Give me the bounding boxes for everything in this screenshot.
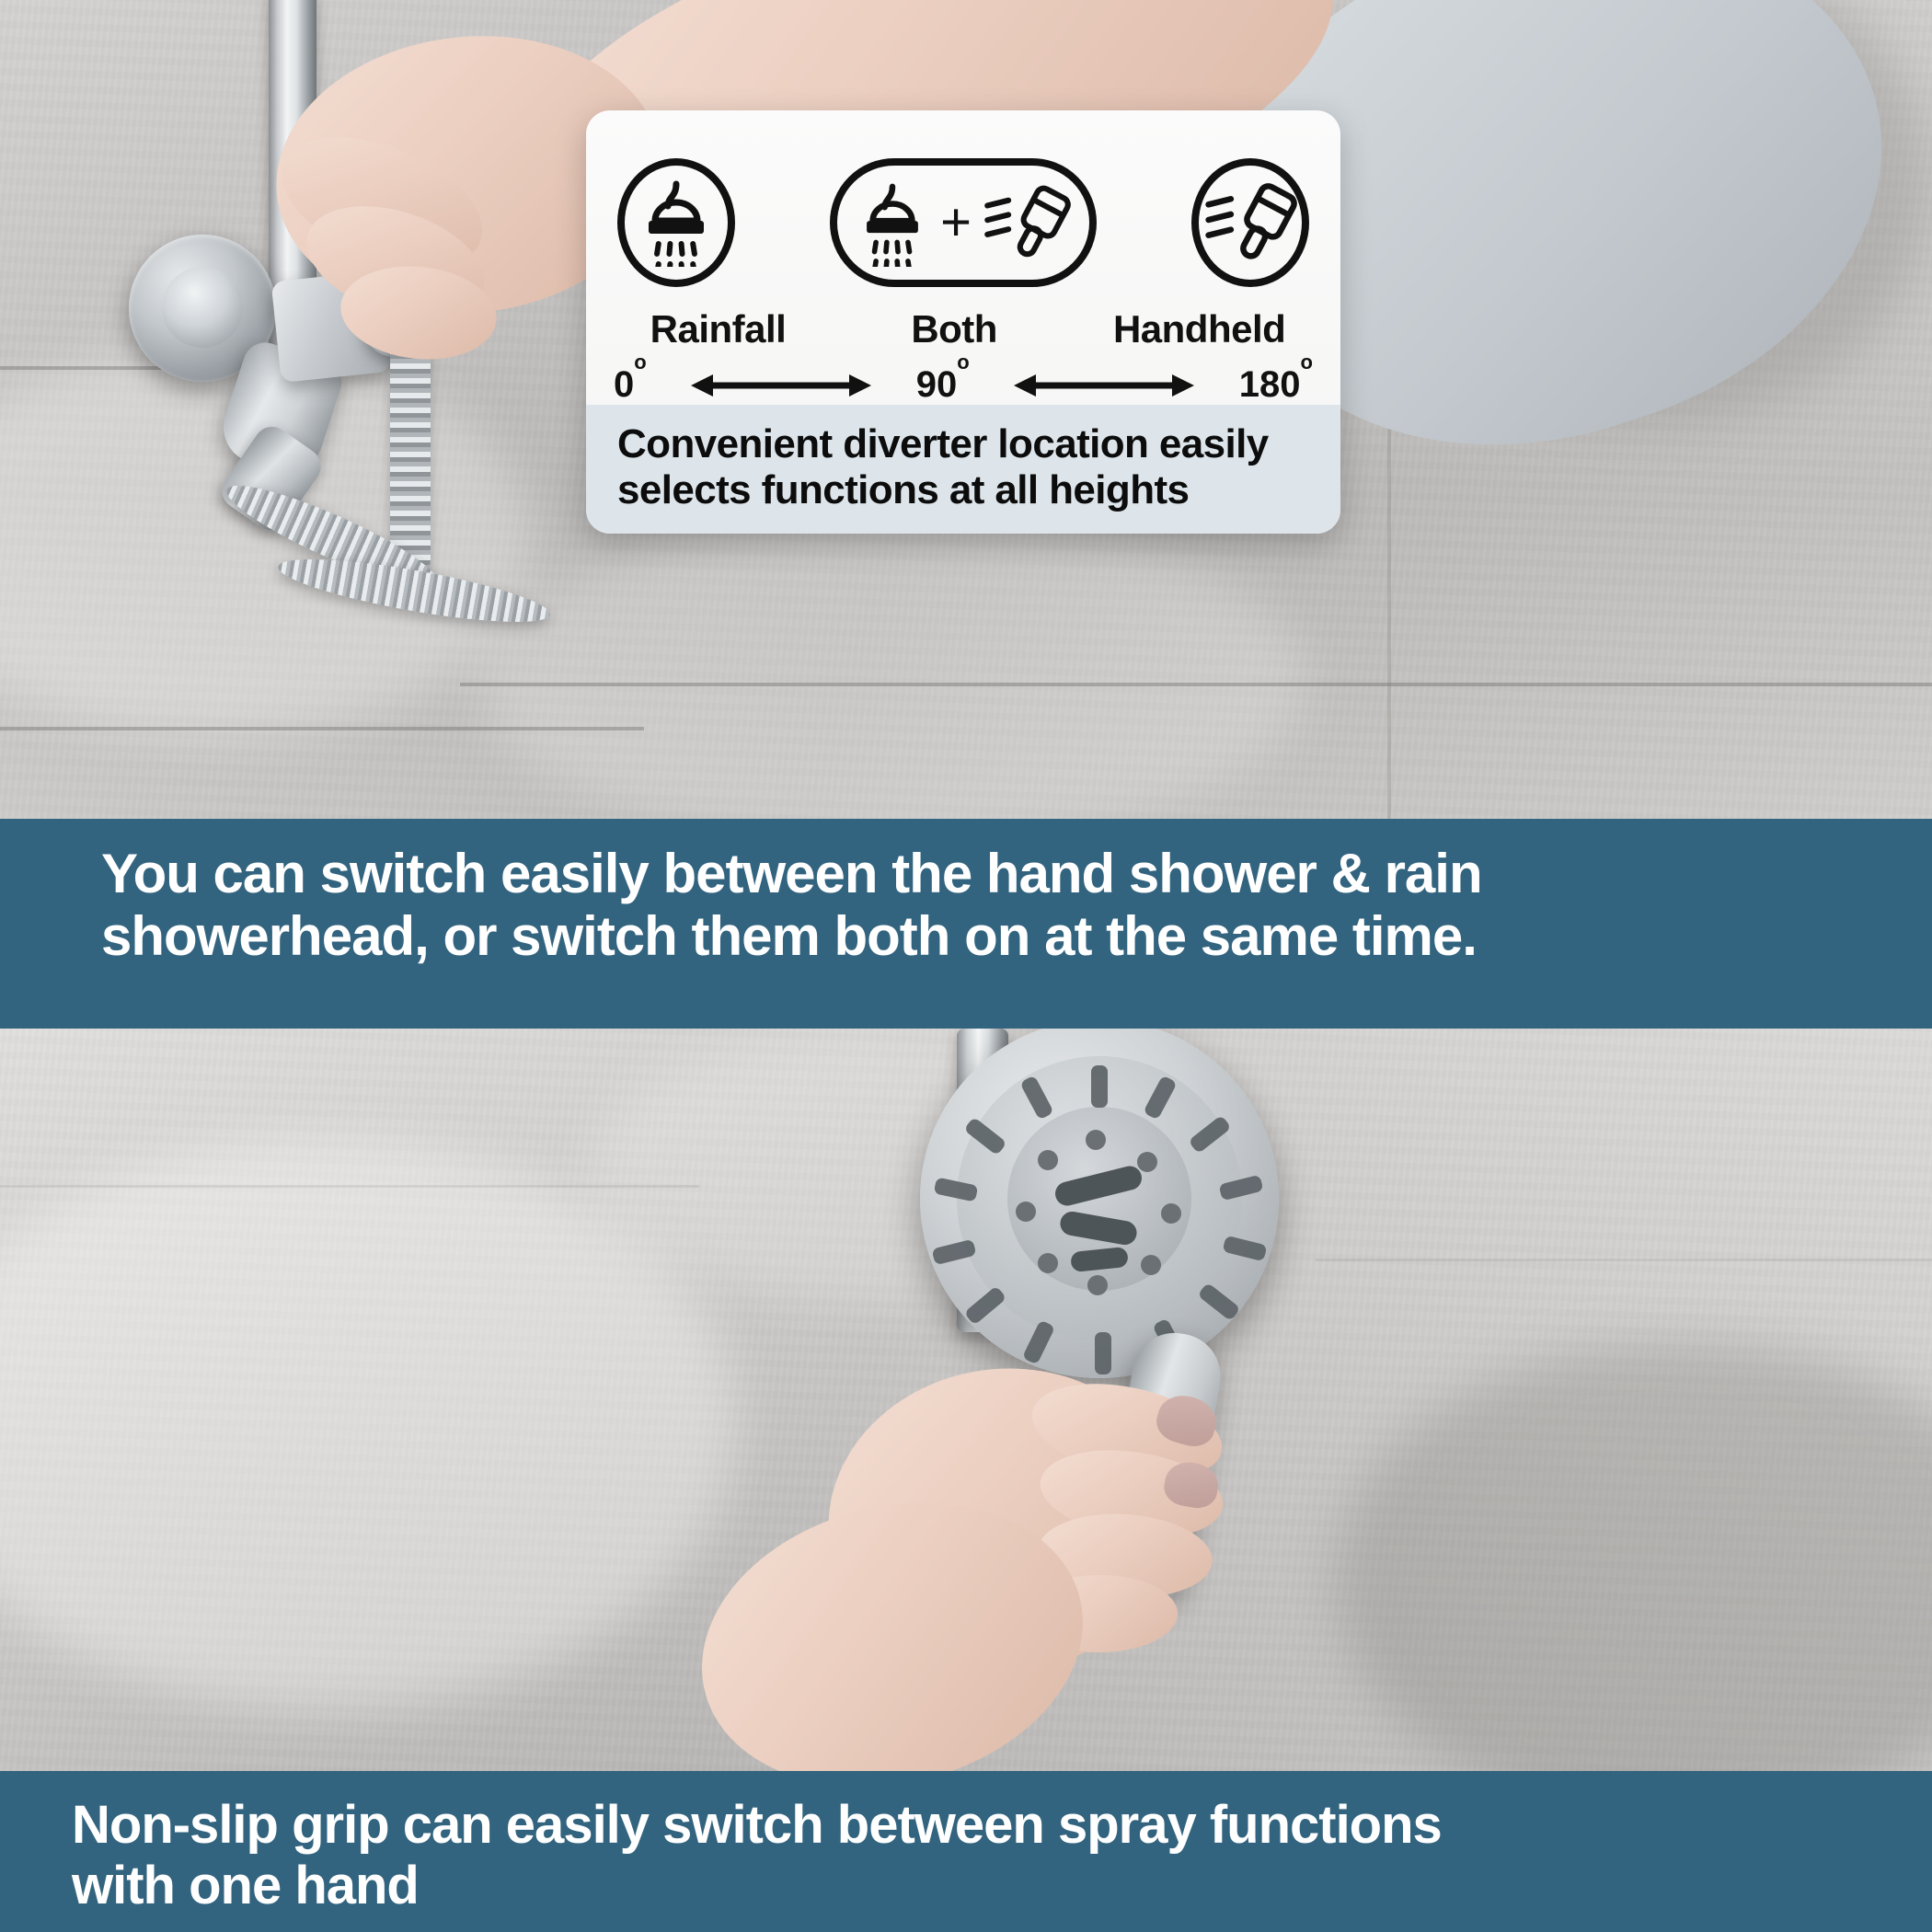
handheld-showerhead-photo: [0, 1029, 1932, 1771]
handheld-shower-icon: [1191, 158, 1309, 287]
nozzle-inner: [1038, 1253, 1058, 1273]
tile-grout-bottom-1: [0, 1185, 699, 1188]
handheld-shower-glyph: [983, 185, 1071, 260]
angle-value-180: 180o: [1239, 364, 1313, 406]
mode-icon-row: +: [586, 110, 1340, 287]
tile-grout-bottom-2: [1316, 1259, 1932, 1261]
nozzle-inner: [1016, 1202, 1036, 1222]
double-arrow-icon-left: [689, 370, 873, 401]
double-arrow-icon-right: [1012, 370, 1196, 401]
mode-label-both: Both: [822, 307, 1086, 351]
banner-switch-modes: You can switch easily between the hand s…: [0, 819, 1932, 1029]
nozzle-inner: [1137, 1152, 1157, 1172]
nozzle-inner: [1038, 1150, 1058, 1170]
tile-grout-horizontal-2: [0, 727, 644, 730]
banner-top-line-2: showerhead, or switch them both on at th…: [101, 905, 1888, 968]
mode-icon-handheld: [1191, 158, 1309, 287]
rain-shower-icon: [617, 158, 735, 287]
rain-shower-glyph: [856, 178, 929, 267]
mode-label-rainfall: Rainfall: [614, 307, 822, 351]
banner-bottom-line-1: Non-slip grip can easily switch between …: [72, 1795, 1888, 1856]
card-caption-line-1: Convenient diverter location easily: [617, 421, 1317, 467]
mode-labels-row: Rainfall Both Handheld: [586, 287, 1340, 351]
plus-icon: +: [940, 196, 972, 249]
angle-scale-row: 0o 90o 180o: [586, 351, 1340, 406]
banner-non-slip-grip: Non-slip grip can easily switch between …: [0, 1771, 1932, 1932]
nozzle: [1095, 1332, 1111, 1374]
banner-bottom-line-2: with one hand: [72, 1856, 1888, 1916]
nozzle-inner: [1086, 1130, 1106, 1150]
nozzle-inner: [1141, 1255, 1161, 1275]
nozzle: [1091, 1065, 1108, 1108]
card-caption-line-2: selects functions at all heights: [617, 467, 1317, 513]
card-caption: Convenient diverter location easily sele…: [586, 405, 1340, 534]
angle-value-0: 0o: [614, 364, 647, 406]
angle-value-90: 90o: [916, 364, 970, 406]
mode-icon-rainfall: [617, 158, 735, 287]
wall-flange-ring: [162, 267, 243, 348]
mode-icon-both: +: [830, 158, 1097, 287]
tile-grout-horizontal-3: [460, 683, 1932, 686]
product-infographic: +: [0, 0, 1932, 1932]
nozzle-inner: [1161, 1203, 1181, 1224]
shower-diverter-photo: +: [0, 0, 1932, 819]
rain-plus-handheld-icon: +: [830, 158, 1097, 287]
banner-top-line-1: You can switch easily between the hand s…: [101, 843, 1888, 905]
mode-label-handheld: Handheld: [1086, 307, 1313, 351]
nozzle-inner: [1087, 1275, 1108, 1295]
diverter-info-card: +: [586, 110, 1340, 534]
